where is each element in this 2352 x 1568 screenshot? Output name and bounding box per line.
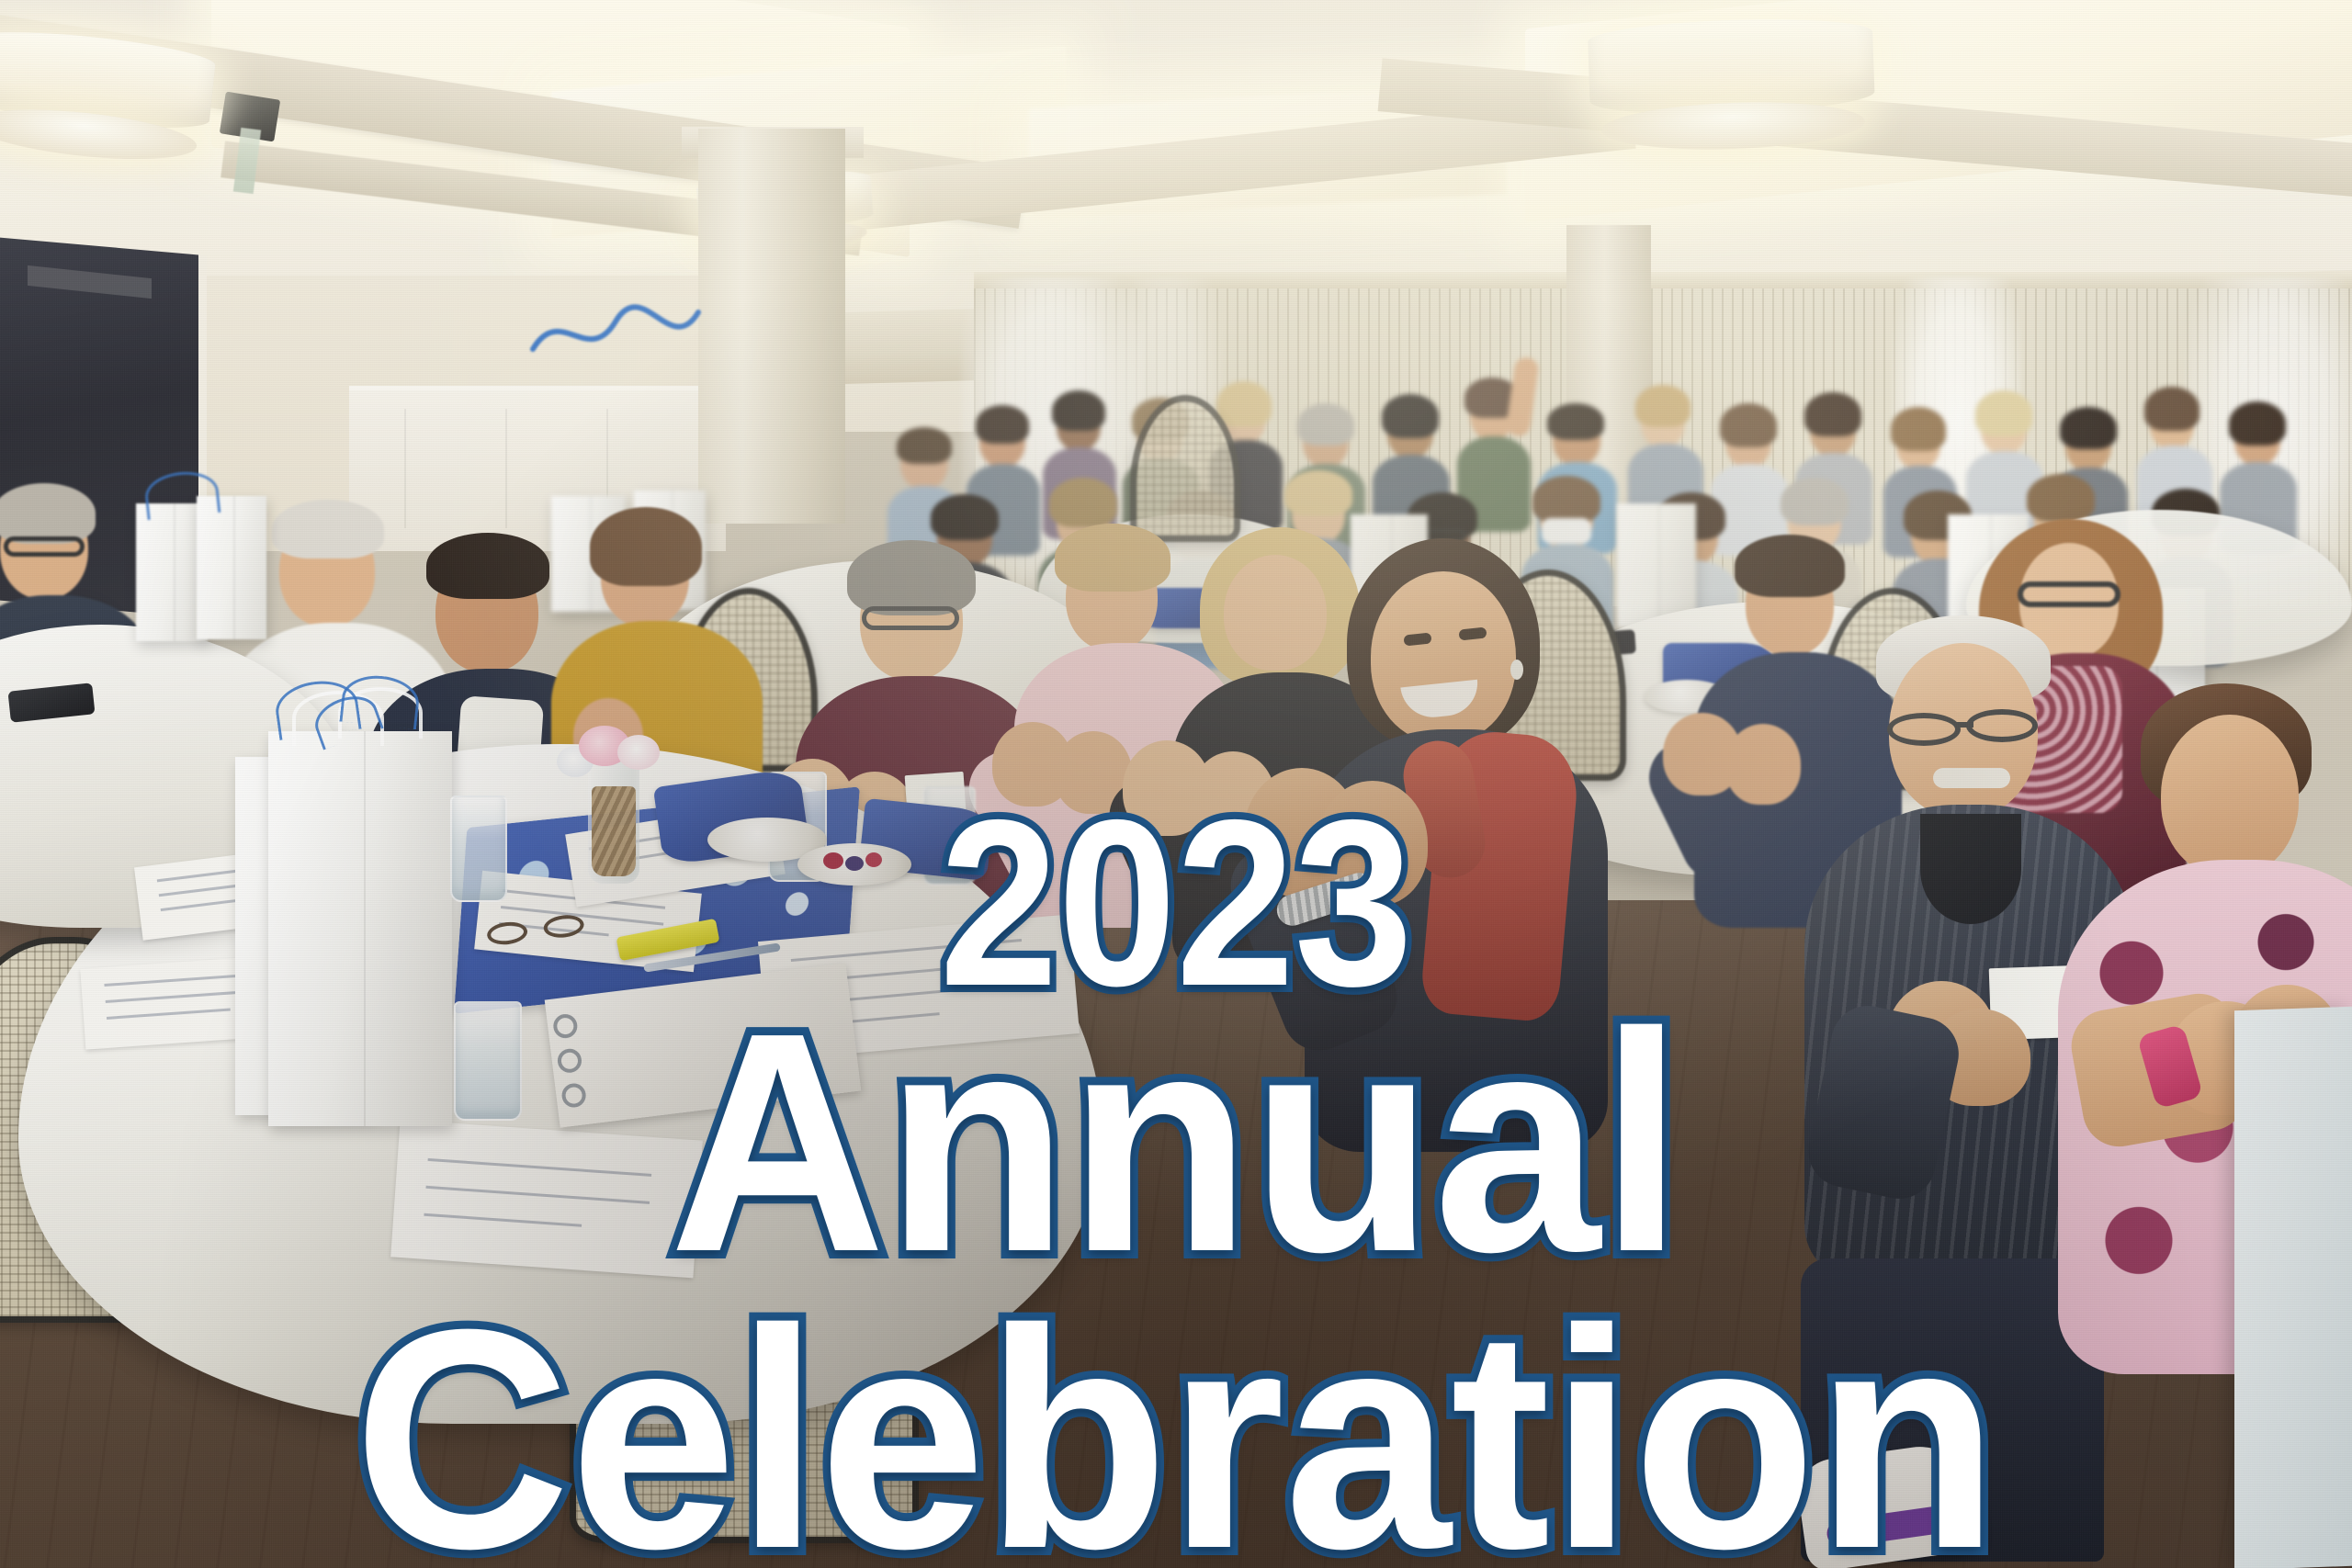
printed-handout (390, 1120, 703, 1279)
gift-bag (197, 496, 266, 639)
water-glass (454, 1001, 522, 1121)
flower-vase-filler (592, 786, 636, 876)
display-board (2234, 1007, 2352, 1568)
berry (823, 852, 843, 869)
drum-pendant-light (1588, 16, 1877, 154)
column (698, 129, 845, 524)
event-photo-banner: 2023 Annual Celebration Inspiring an Age… (0, 0, 2352, 1568)
balloon-ribbon-icon (524, 294, 707, 377)
carnation-flower (617, 735, 660, 770)
gift-bag (268, 731, 452, 1126)
berry (845, 856, 864, 871)
water-glass (450, 795, 507, 902)
berry (865, 852, 882, 867)
drum-pendant-light (0, 24, 217, 169)
